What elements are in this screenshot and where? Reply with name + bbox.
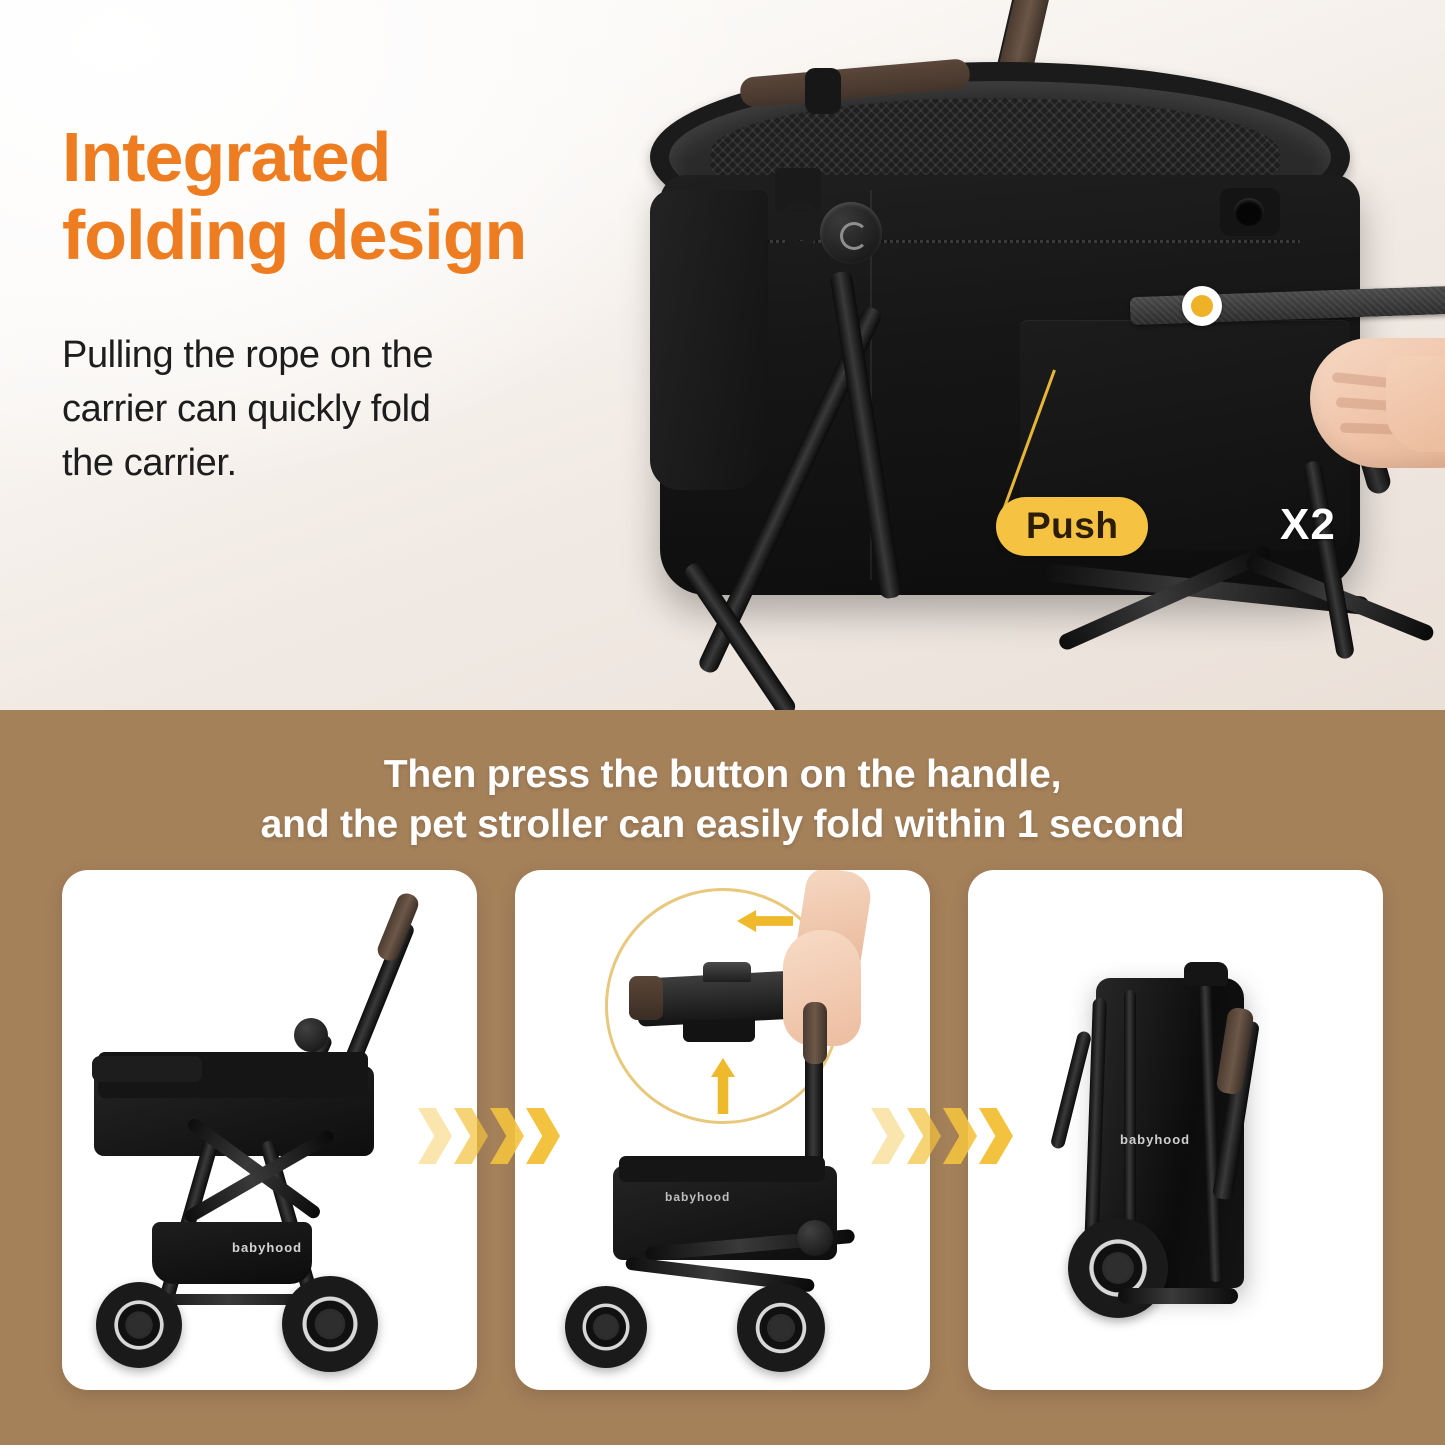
handle-grip bbox=[375, 890, 422, 963]
front-wheel bbox=[565, 1286, 647, 1368]
chevron-right-icon bbox=[418, 1108, 452, 1164]
finger-line-3 bbox=[1340, 423, 1420, 436]
carrier-port bbox=[1220, 188, 1280, 236]
stroller-folded-illustration: babyhood bbox=[968, 870, 1383, 1390]
hero-description-line-2: carrier can quickly fold bbox=[62, 383, 662, 437]
rear-wheel bbox=[737, 1284, 825, 1372]
chevron-right-icon bbox=[907, 1108, 941, 1164]
hinge-hub-icon bbox=[294, 1018, 328, 1052]
hero-description: Pulling the rope on the carrier can quic… bbox=[62, 329, 662, 491]
carrier-clip bbox=[805, 68, 841, 114]
finger-line-1 bbox=[1332, 372, 1411, 390]
product-badge: X2 bbox=[1280, 500, 1336, 550]
folded-base-bar bbox=[1118, 1288, 1238, 1304]
footrest bbox=[92, 1056, 202, 1082]
hero-description-line-3: the carrier. bbox=[62, 437, 662, 491]
folded-top-hook bbox=[1184, 962, 1228, 986]
chevron-right-icon bbox=[526, 1108, 560, 1164]
stroller-open-illustration: babyhood bbox=[62, 870, 477, 1390]
brand-logo: babyhood bbox=[1120, 1132, 1190, 1147]
hero-title-line-1: Integrated bbox=[62, 118, 662, 196]
brand-hub-badge bbox=[820, 202, 882, 264]
hero-text-block: Integrated folding design Pulling the ro… bbox=[62, 118, 662, 491]
stroller-folding-illustration: babyhood bbox=[515, 870, 930, 1390]
step-arrow-group-2 bbox=[871, 1108, 1013, 1164]
step-card-folded-stroller: babyhood bbox=[968, 870, 1383, 1390]
handle-grip bbox=[803, 1002, 827, 1064]
chevron-right-icon bbox=[490, 1108, 524, 1164]
chevron-right-icon bbox=[871, 1108, 905, 1164]
chevron-right-icon bbox=[979, 1108, 1013, 1164]
push-callout-badge: Push bbox=[996, 497, 1148, 556]
steps-cards: babyhood bbox=[0, 870, 1445, 1390]
step-card-open-stroller: babyhood bbox=[62, 870, 477, 1390]
steps-heading: Then press the button on the handle, and… bbox=[0, 750, 1445, 850]
finger-line-2 bbox=[1336, 397, 1422, 413]
pet-carrier-photo: X2 bbox=[620, 0, 1445, 710]
chevron-right-icon bbox=[943, 1108, 977, 1164]
step-card-press-button: babyhood bbox=[515, 870, 930, 1390]
step-arrow-group-1 bbox=[418, 1108, 560, 1164]
chevron-right-icon bbox=[454, 1108, 488, 1164]
folded-arm bbox=[1050, 1030, 1093, 1150]
fold-release-button[interactable] bbox=[703, 962, 751, 982]
steps-heading-line-1: Then press the button on the handle, bbox=[0, 750, 1445, 800]
push-button-dot-icon bbox=[1191, 295, 1213, 317]
steps-heading-line-2: and the pet stroller can easily fold wit… bbox=[0, 800, 1445, 850]
folded-seat-top bbox=[619, 1156, 825, 1182]
steps-section: Then press the button on the handle, and… bbox=[0, 710, 1445, 1445]
rear-wheel bbox=[282, 1276, 378, 1372]
push-button-marker[interactable] bbox=[1182, 286, 1222, 326]
handle-detail-grip bbox=[629, 976, 663, 1020]
page-title: Integrated folding design bbox=[62, 118, 662, 275]
handle-detail-foot bbox=[683, 1020, 755, 1042]
hero-description-line-1: Pulling the rope on the bbox=[62, 329, 662, 383]
brand-logo: babyhood bbox=[665, 1190, 730, 1204]
hero-section: Integrated folding design Pulling the ro… bbox=[0, 0, 1445, 710]
hero-title-line-2: folding design bbox=[62, 196, 662, 274]
front-wheel bbox=[96, 1282, 182, 1368]
carrier-side-pouch bbox=[650, 190, 768, 490]
d-ring-icon bbox=[780, 202, 820, 248]
hinge-hub-icon bbox=[797, 1220, 833, 1256]
brand-logo: babyhood bbox=[232, 1240, 302, 1255]
